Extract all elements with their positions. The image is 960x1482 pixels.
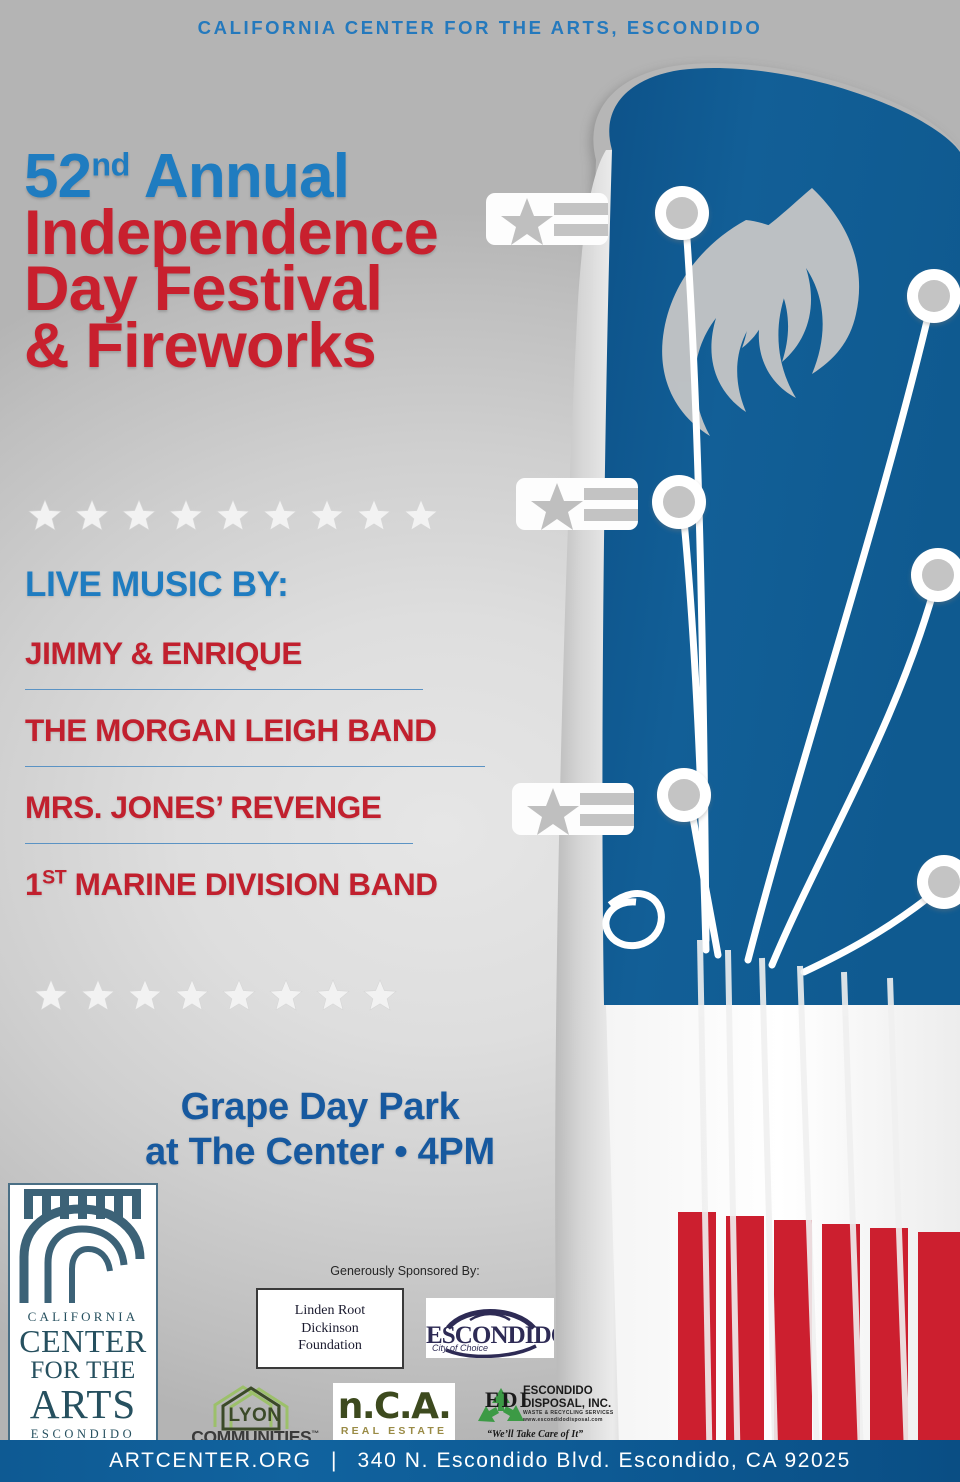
edi-tagline: “We’ll Take Care of It” <box>487 1429 583 1440</box>
sponsor-logo-city-of-escondido: ESCONDIDO City of Choice <box>426 1298 554 1358</box>
sponsor-row-primary: Linden Root Dickinson Foundation ESCONDI… <box>170 1288 640 1369</box>
footer-address: 340 N. Escondido Blvd. Escondido, CA 920… <box>358 1449 851 1472</box>
escondido-tagline: City of Choice <box>432 1343 488 1353</box>
lineup-heading: LIVE MUSIC BY: <box>25 565 545 605</box>
edi-company-name: ESCONDIDO DISPOSAL, INC. <box>523 1385 611 1411</box>
star-icon <box>216 498 250 532</box>
band-name-1: JIMMY & ENRIQUE <box>25 635 545 672</box>
ccae-logo: CALIFORNIA CENTER FOR THE ARTS ESCONDIDO <box>8 1183 158 1445</box>
sponsor-logo-nca-real-estate: n.C.A. REAL ESTATE <box>333 1383 455 1441</box>
star-icon <box>222 978 256 1012</box>
ccae-arts: ARTS <box>10 1384 156 1425</box>
edi-letters: EDI <box>485 1387 530 1413</box>
tuning-peg-group <box>652 186 960 909</box>
star-icon <box>357 498 391 532</box>
edi-name-line-1: ESCONDIDO <box>523 1385 611 1398</box>
band-divider-3 <box>25 843 413 844</box>
poster-header: CALIFORNIA CENTER FOR THE ARTS, ESCONDID… <box>0 0 960 56</box>
ccae-for-the: FOR THE <box>10 1358 156 1384</box>
event-title-block: 52nd Annual Independence Day Festival & … <box>24 148 544 376</box>
edi-services-line: WASTE & RECYCLING SERVICES <box>523 1410 614 1417</box>
star-icon <box>75 498 109 532</box>
sponsors-caption: Generously Sponsored By: <box>170 1264 640 1278</box>
star-divider-bottom <box>34 978 397 1012</box>
star-icon <box>122 498 156 532</box>
star-icon <box>128 978 162 1012</box>
linden-line-2: Foundation <box>268 1337 392 1355</box>
poster-footer: ARTCENTER.ORG | 340 N. Escondido Blvd. E… <box>0 1440 960 1482</box>
star-icon <box>316 978 350 1012</box>
linden-line-1: Linden Root Dickinson <box>268 1302 392 1337</box>
organization-name: CALIFORNIA CENTER FOR THE ARTS, ESCONDID… <box>198 17 763 39</box>
ccae-center: CENTER <box>10 1325 156 1358</box>
star-divider-top <box>28 498 438 532</box>
star-icon <box>81 978 115 1012</box>
nca-subtitle: REAL ESTATE <box>333 1425 455 1437</box>
band-4-rest: MARINE DIVISION BAND <box>66 866 437 902</box>
sponsors-block: Generously Sponsored By: Linden Root Dic… <box>170 1264 640 1441</box>
star-icon <box>310 498 344 532</box>
music-lineup-block: LIVE MUSIC BY: JIMMY & ENRIQUE THE MORGA… <box>25 565 545 903</box>
poster-canvas: CALIFORNIA CENTER FOR THE ARTS, ESCONDID… <box>0 0 960 1482</box>
sponsor-logo-linden-root-dickinson: Linden Root Dickinson Foundation <box>256 1288 404 1369</box>
band-divider-2 <box>25 766 485 767</box>
sponsor-row-secondary: LYON COMMUNITIES™ n.C.A. REAL ESTATE EDI <box>170 1383 640 1441</box>
edition-ordinal-suffix: nd <box>91 146 129 182</box>
band-4-prefix: 1 <box>25 866 42 902</box>
star-icon <box>28 498 62 532</box>
band-name-3: MRS. JONES’ REVENGE <box>25 789 545 826</box>
edi-small-print: WASTE & RECYCLING SERVICES www.escondido… <box>523 1410 614 1425</box>
star-icon <box>269 978 303 1012</box>
band-name-2: THE MORGAN LEIGH BAND <box>25 712 545 749</box>
footer-website[interactable]: ARTCENTER.ORG <box>109 1449 311 1472</box>
sponsor-logo-escondido-disposal: EDI ESCONDIDO DISPOSAL, INC. WASTE & REC… <box>469 1383 619 1441</box>
ccae-arch-mark <box>14 1187 152 1307</box>
lyon-trademark: ™ <box>311 1429 318 1438</box>
title-line-fireworks: & Fireworks <box>24 317 544 377</box>
ccae-wordmark: CALIFORNIA CENTER FOR THE ARTS ESCONDIDO <box>10 1309 156 1442</box>
star-icon <box>404 498 438 532</box>
nca-name: n.C.A. <box>333 1386 455 1427</box>
star-icon <box>169 498 203 532</box>
venue-name: Grape Day Park <box>0 1085 640 1130</box>
band-divider-1 <box>25 689 423 690</box>
band-4-ordinal: ST <box>42 867 66 889</box>
star-icon <box>263 498 297 532</box>
edi-website-line: www.escondidodisposal.com <box>523 1417 614 1424</box>
band-name-4: 1ST MARINE DIVISION BAND <box>25 866 545 903</box>
star-icon <box>34 978 68 1012</box>
sponsor-logo-lyon-communities: LYON COMMUNITIES™ <box>191 1383 319 1441</box>
footer-contact-line: ARTCENTER.ORG | 340 N. Escondido Blvd. E… <box>109 1449 851 1473</box>
lyon-name: LYON <box>191 1405 319 1427</box>
star-icon <box>363 978 397 1012</box>
star-stripe-badge-2 <box>516 478 638 530</box>
flame-swoosh-emblem <box>662 188 859 436</box>
star-icon <box>175 978 209 1012</box>
venue-block: Grape Day Park at The Center • 4PM <box>0 1085 640 1175</box>
venue-location-time: at The Center • 4PM <box>0 1130 640 1175</box>
footer-separator: | <box>319 1449 350 1472</box>
